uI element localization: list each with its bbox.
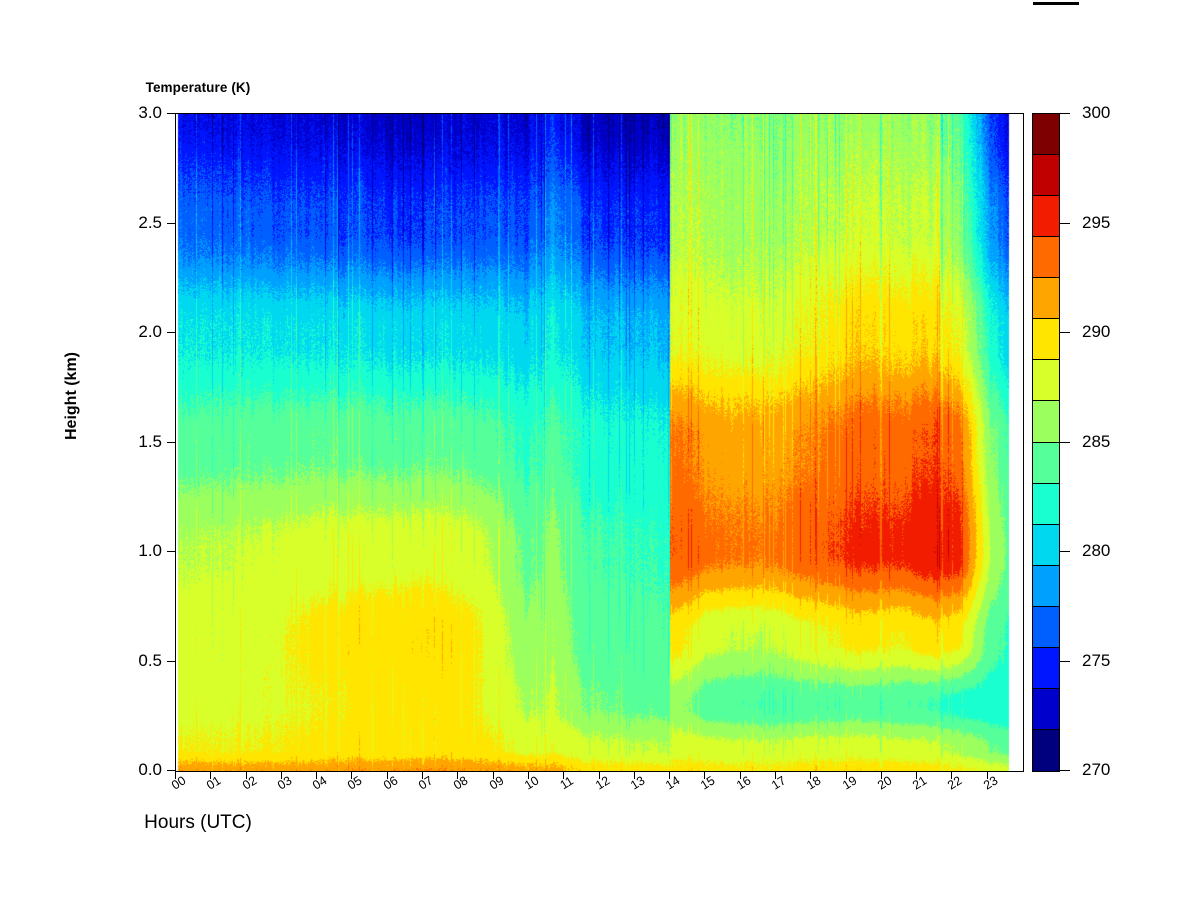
colorbar-tick-label: 270 (1082, 760, 1110, 780)
colorbar-band (1033, 155, 1059, 196)
colorbar-band (1033, 196, 1059, 237)
x-tick-label: 19 (840, 773, 859, 792)
colorbar-band (1033, 566, 1059, 607)
x-tick-label: 07 (416, 773, 435, 792)
x-tick-label: 22 (946, 773, 965, 792)
x-tick-label: 03 (275, 773, 294, 792)
x-tick-label: 02 (240, 773, 259, 792)
colorbar-tick-label: 290 (1082, 322, 1110, 342)
colorbar-band (1033, 443, 1059, 484)
colorbar-tick (1060, 442, 1070, 443)
colorbar-tick-label: 275 (1082, 651, 1110, 671)
colorbar-tick-label: 280 (1082, 541, 1110, 561)
x-tick-label: 09 (487, 773, 506, 792)
x-tick-label: 11 (558, 774, 576, 793)
colorbar-tick-labels: 300295290285280275270 (1060, 0, 1180, 900)
colorbar-band (1033, 525, 1059, 566)
x-tick-label: 17 (769, 773, 788, 792)
colorbar-band (1033, 401, 1059, 442)
colorbar-band (1033, 484, 1059, 525)
colorbar-tick-label: 300 (1082, 103, 1110, 123)
colorbar-tick-label: 285 (1082, 432, 1110, 452)
colorbar-band (1033, 730, 1059, 771)
colorbar-tick (1060, 551, 1070, 552)
x-tick-label: 00 (169, 773, 188, 792)
colorbar-tick (1060, 113, 1070, 114)
x-tick-label: 10 (522, 773, 541, 792)
x-tick-label: 08 (451, 773, 470, 792)
colorbar-band (1033, 648, 1059, 689)
heatmap-plot-area (175, 113, 1024, 772)
colorbar-tick (1060, 661, 1070, 662)
colorbar-band (1033, 319, 1059, 360)
figure-canvas: Temperature (K) Height (km) Hours (UTC) … (0, 0, 1200, 900)
temperature-heatmap (176, 114, 1023, 771)
colorbar-band (1033, 360, 1059, 401)
colorbar-band (1033, 237, 1059, 278)
colorbar-band (1033, 278, 1059, 319)
x-tick-label: 16 (734, 773, 753, 792)
colorbar-band (1033, 607, 1059, 648)
colorbar-band (1033, 689, 1059, 730)
colorbar (1032, 113, 1060, 772)
colorbar-tick (1060, 332, 1070, 333)
colorbar-tick-label: 295 (1082, 213, 1110, 233)
x-tick-label: 15 (698, 773, 717, 792)
x-tick-label: 05 (346, 773, 365, 792)
colorbar-tick (1060, 770, 1070, 771)
colorbar-tick (1060, 223, 1070, 224)
x-tick-label: 04 (310, 773, 329, 792)
colorbar-band (1033, 114, 1059, 155)
x-tick-label: 13 (628, 773, 647, 792)
x-tick-label: 12 (593, 773, 612, 792)
x-tick-label: 06 (381, 773, 400, 792)
x-tick-label: 21 (910, 773, 929, 792)
x-tick-label: 01 (204, 773, 223, 792)
x-tick-label: 14 (663, 773, 682, 792)
x-tick-label: 20 (875, 773, 894, 792)
x-tick-label: 18 (804, 773, 823, 792)
x-tick-label: 23 (981, 773, 1000, 792)
